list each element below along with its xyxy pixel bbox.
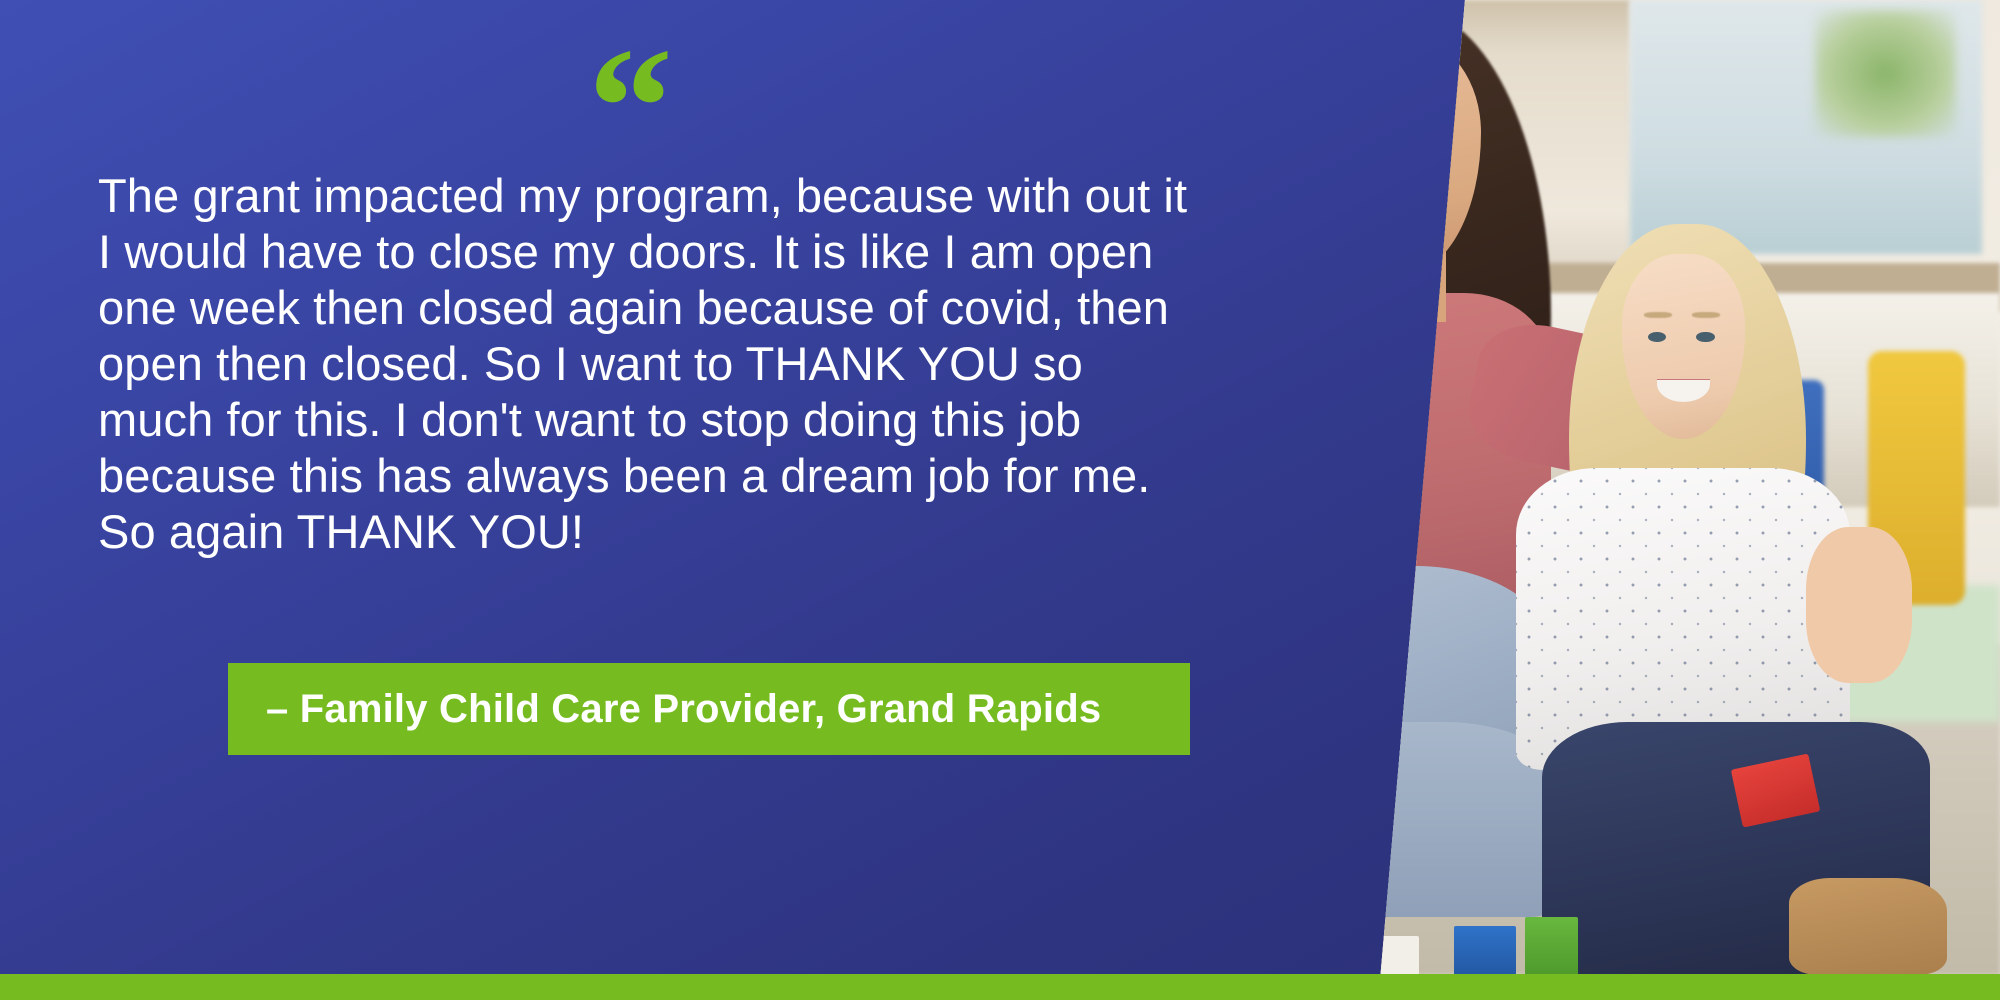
child-shoe (1789, 878, 1947, 976)
attribution-text: – Family Child Care Provider, Grand Rapi… (228, 687, 1101, 732)
child-eyebrow (1692, 312, 1720, 318)
child-eyebrow (1644, 312, 1672, 318)
bottom-accent-strip (0, 974, 2000, 1000)
child-eye (1696, 332, 1714, 343)
photo-plant (1815, 10, 1956, 137)
quote-text: The grant impacted my program, because w… (98, 168, 1188, 560)
open-quote-icon: “ (588, 22, 671, 192)
toy-block-blue (1454, 926, 1516, 975)
testimonial-graphic: “ The grant impacted my program, because… (0, 0, 2000, 1000)
attribution-bar: – Family Child Care Provider, Grand Rapi… (228, 663, 1190, 755)
toy-block-green (1525, 917, 1578, 976)
child-arm (1806, 527, 1912, 683)
